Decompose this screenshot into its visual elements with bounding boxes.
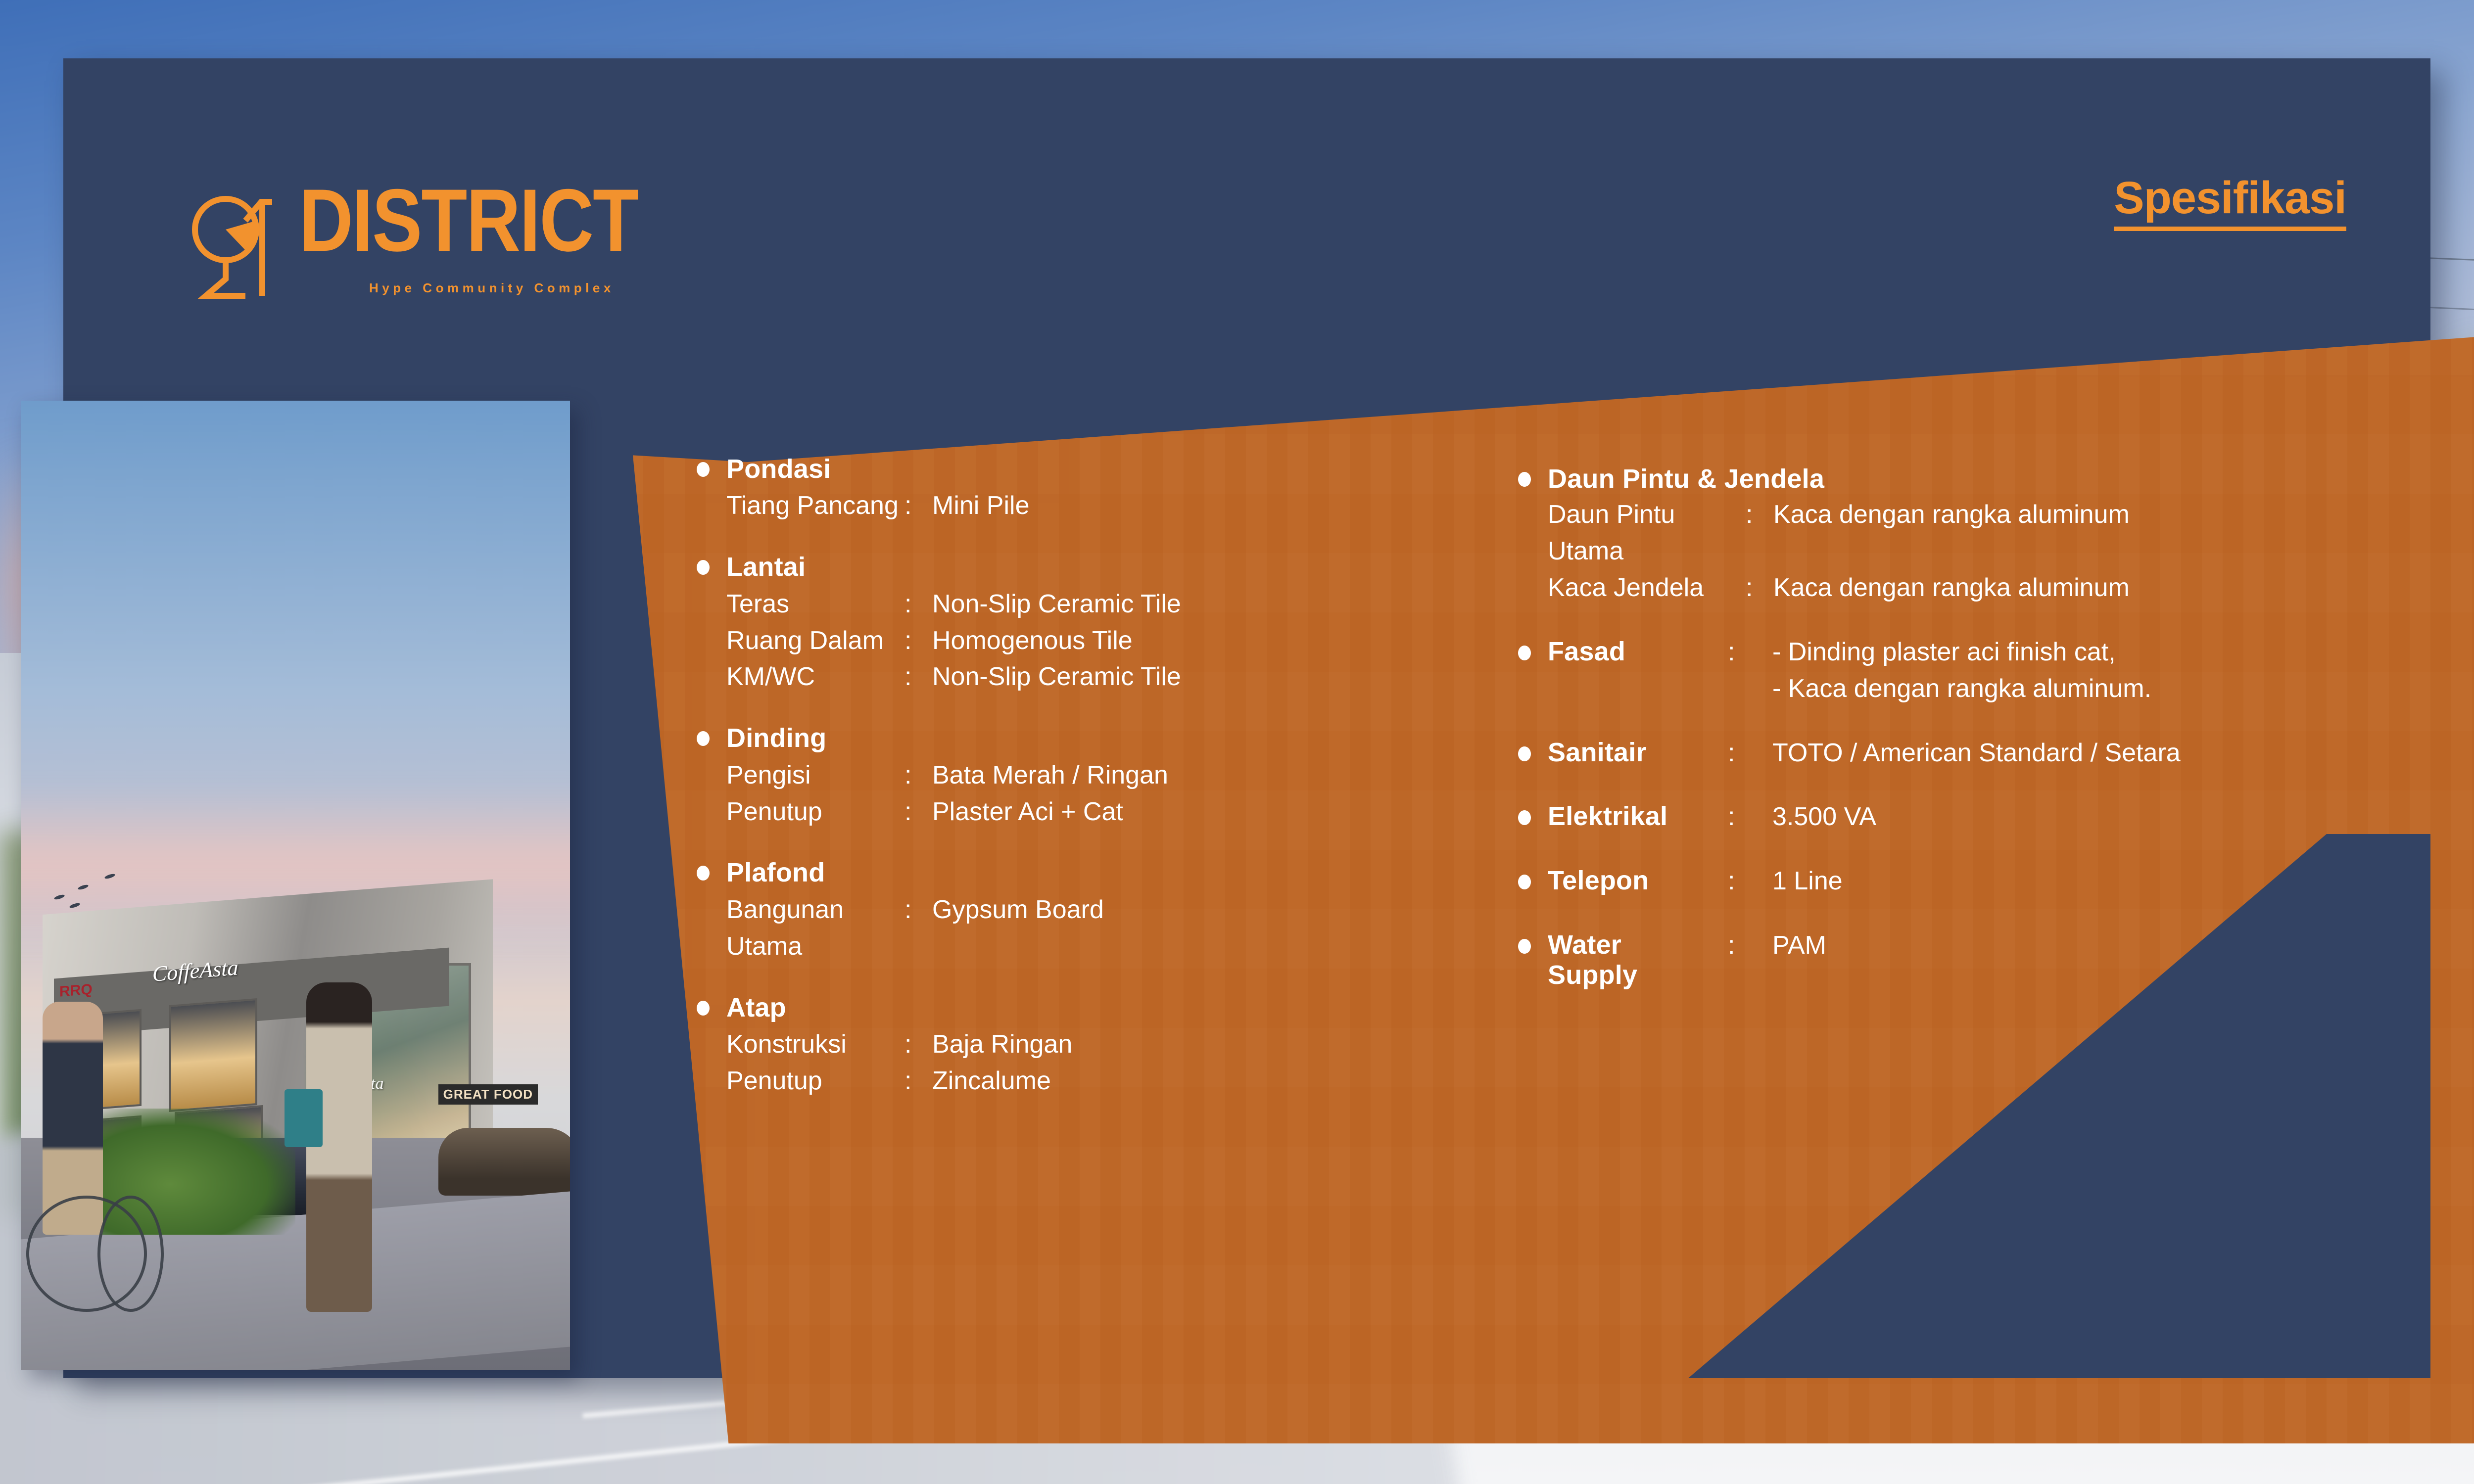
spec-row-separator: : <box>904 794 932 831</box>
spec-row: Tiang Pancang:Mini Pile <box>726 488 1488 524</box>
spec-row-value: Zincalume <box>932 1063 1488 1100</box>
spec-group-values: - Dinding plaster aci finish cat,- Kaca … <box>1772 634 2151 707</box>
spec-group: DindingPengisi:Bata Merah / RinganPenutu… <box>697 723 1488 830</box>
spec-row: Ruang Dalam:Homogenous Tile <box>726 623 1488 659</box>
spec-row-separator: : <box>904 659 932 696</box>
spec-row-separator: : <box>904 1063 932 1100</box>
spec-group: Elektrikal:3.500 VA <box>1518 799 2474 835</box>
spec-rows: Tiang Pancang:Mini Pile <box>726 488 1488 524</box>
spec-row-value: Mini Pile <box>932 488 1488 524</box>
spec-row-separator: : <box>904 1026 932 1063</box>
spec-row-key: Daun Pintu Utama <box>1548 497 1746 570</box>
photo-car-2 <box>438 1128 570 1196</box>
spec-row-value: 1 Line <box>1772 863 1843 900</box>
spec-row-value: Bata Merah / Ringan <box>932 757 1488 794</box>
spec-row-value: Homogenous Tile <box>932 623 1488 659</box>
spec-row-separator: : <box>1728 930 1756 960</box>
spec-row: Kaca Jendela:Kaca dengan rangka aluminum <box>1548 570 2474 606</box>
spec-rows: Teras:Non-Slip Ceramic TileRuang Dalam:H… <box>726 586 1488 696</box>
spec-group: Water Supply:PAM <box>1518 927 2474 990</box>
photo-sign-rrq: RRQ <box>59 981 93 1000</box>
project-render-photo: RRQ CoffeAsta CoffeAsta GREAT FOOD <box>21 401 570 1370</box>
spec-row-value: Plaster Aci + Cat <box>932 794 1488 831</box>
spec-rows: Bangunan Utama:Gypsum Board <box>726 892 1488 965</box>
bullet-icon <box>697 866 710 881</box>
spec-row-value: Non-Slip Ceramic Tile <box>932 659 1488 696</box>
photo-person-walking <box>306 982 372 1312</box>
spec-group-title: Sanitair <box>1548 738 1711 767</box>
spec-row: Teras:Non-Slip Ceramic Tile <box>726 586 1488 623</box>
spec-row: Daun Pintu Utama:Kaca dengan rangka alum… <box>1548 497 2474 570</box>
bullet-icon <box>1518 646 1531 660</box>
spec-group: Telepon:1 Line <box>1518 863 2474 900</box>
spec-row: Pengisi:Bata Merah / Ringan <box>726 757 1488 794</box>
spec-row-separator: : <box>1728 738 1756 768</box>
spec-group-values: PAM <box>1772 927 1826 964</box>
spec-row-separator: : <box>904 586 932 623</box>
spec-group-title: Daun Pintu & Jendela <box>1548 464 1824 494</box>
bullet-icon <box>1518 746 1531 761</box>
bullet-icon <box>697 560 710 575</box>
spec-row-value: PAM <box>1772 927 1826 964</box>
spec-rows: Pengisi:Bata Merah / RinganPenutup:Plast… <box>726 757 1488 831</box>
bullet-icon <box>697 731 710 746</box>
spec-row-separator: : <box>904 757 932 794</box>
spec-row-separator: : <box>904 488 932 524</box>
spec-group: Sanitair:TOTO / American Standard / Seta… <box>1518 735 2474 772</box>
spec-row-value: - Kaca dengan rangka aluminum. <box>1772 671 2151 707</box>
spec-row-key: Konstruksi <box>726 1026 904 1063</box>
spec-row-key: Tiang Pancang <box>726 488 904 524</box>
spec-group-values: TOTO / American Standard / Setara <box>1772 735 2181 772</box>
spec-row-key: KM/WC <box>726 659 904 696</box>
spec-column-right: Daun Pintu & JendelaDaun Pintu Utama:Kac… <box>1518 464 2474 1018</box>
spec-row-value: - Dinding plaster aci finish cat, <box>1772 634 2151 671</box>
spec-group-title: Water Supply <box>1548 930 1711 990</box>
bullet-icon <box>1518 472 1531 487</box>
spec-row: Penutup:Zincalume <box>726 1063 1488 1100</box>
spec-row-value: Baja Ringan <box>932 1026 1488 1063</box>
spec-group-title: Elektrikal <box>1548 801 1711 831</box>
bullet-icon <box>697 462 710 477</box>
spec-row-separator: : <box>1728 802 1756 832</box>
spec-row-value: Gypsum Board <box>932 892 1488 928</box>
spec-group: AtapKonstruksi:Baja RinganPenutup:Zincal… <box>697 993 1488 1100</box>
spec-row-value: 3.500 VA <box>1772 799 1876 835</box>
spec-rows: Daun Pintu Utama:Kaca dengan rangka alum… <box>1548 497 2474 606</box>
photo-sign-great-food: GREAT FOOD <box>438 1084 538 1105</box>
spec-row: Konstruksi:Baja Ringan <box>726 1026 1488 1063</box>
spec-group-title: Plafond <box>726 858 825 887</box>
spec-row-key: Teras <box>726 586 904 623</box>
spec-row-separator: : <box>1728 866 1756 896</box>
spec-row-separator: : <box>904 623 932 659</box>
spec-row-separator: : <box>904 892 932 928</box>
spec-group-title: Lantai <box>726 552 806 582</box>
spec-group: PlafondBangunan Utama:Gypsum Board <box>697 858 1488 965</box>
spec-row-value: Kaca dengan rangka aluminum <box>1773 497 2474 533</box>
spec-group-title: Atap <box>726 993 786 1022</box>
spec-group-title: Fasad <box>1548 637 1711 666</box>
bullet-icon <box>1518 875 1531 889</box>
spec-row-key: Pengisi <box>726 757 904 794</box>
spec-row-key: Penutup <box>726 794 904 831</box>
spec-group-values: 1 Line <box>1772 863 1843 900</box>
photo-bicycle-wheel-2 <box>97 1196 163 1312</box>
spec-group-title: Pondasi <box>726 454 831 484</box>
photo-handbag <box>285 1089 323 1148</box>
spec-group-title: Telepon <box>1548 866 1711 895</box>
spec-row-separator: : <box>1746 497 1773 533</box>
spec-rows: Konstruksi:Baja RinganPenutup:Zincalume <box>726 1026 1488 1100</box>
spec-row-key: Penutup <box>726 1063 904 1100</box>
spec-group: LantaiTeras:Non-Slip Ceramic TileRuang D… <box>697 552 1488 696</box>
bullet-icon <box>697 1001 710 1016</box>
spec-group: PondasiTiang Pancang:Mini Pile <box>697 454 1488 524</box>
spec-column-left: PondasiTiang Pancang:Mini PileLantaiTera… <box>697 454 1488 1127</box>
spec-row-key: Ruang Dalam <box>726 623 904 659</box>
spec-group: Daun Pintu & JendelaDaun Pintu Utama:Kac… <box>1518 464 2474 606</box>
spec-group-values: 3.500 VA <box>1772 799 1876 835</box>
spec-group: Fasad:- Dinding plaster aci finish cat,-… <box>1518 634 2474 707</box>
spec-group-title: Dinding <box>726 723 826 753</box>
bullet-icon <box>1518 939 1531 954</box>
spec-row: KM/WC:Non-Slip Ceramic Tile <box>726 659 1488 696</box>
spec-row: Penutup:Plaster Aci + Cat <box>726 794 1488 831</box>
photo-window <box>169 998 257 1112</box>
spec-row: Bangunan Utama:Gypsum Board <box>726 892 1488 965</box>
spec-row-separator: : <box>1728 637 1756 667</box>
bullet-icon <box>1518 810 1531 825</box>
spec-row-separator: : <box>1746 570 1773 606</box>
spec-row-value: Kaca dengan rangka aluminum <box>1773 570 2474 606</box>
spec-row-value: Non-Slip Ceramic Tile <box>932 586 1488 623</box>
spec-row-key: Kaca Jendela <box>1548 570 1746 606</box>
spec-row-key: Bangunan Utama <box>726 892 904 965</box>
spec-row-value: TOTO / American Standard / Setara <box>1772 735 2181 772</box>
